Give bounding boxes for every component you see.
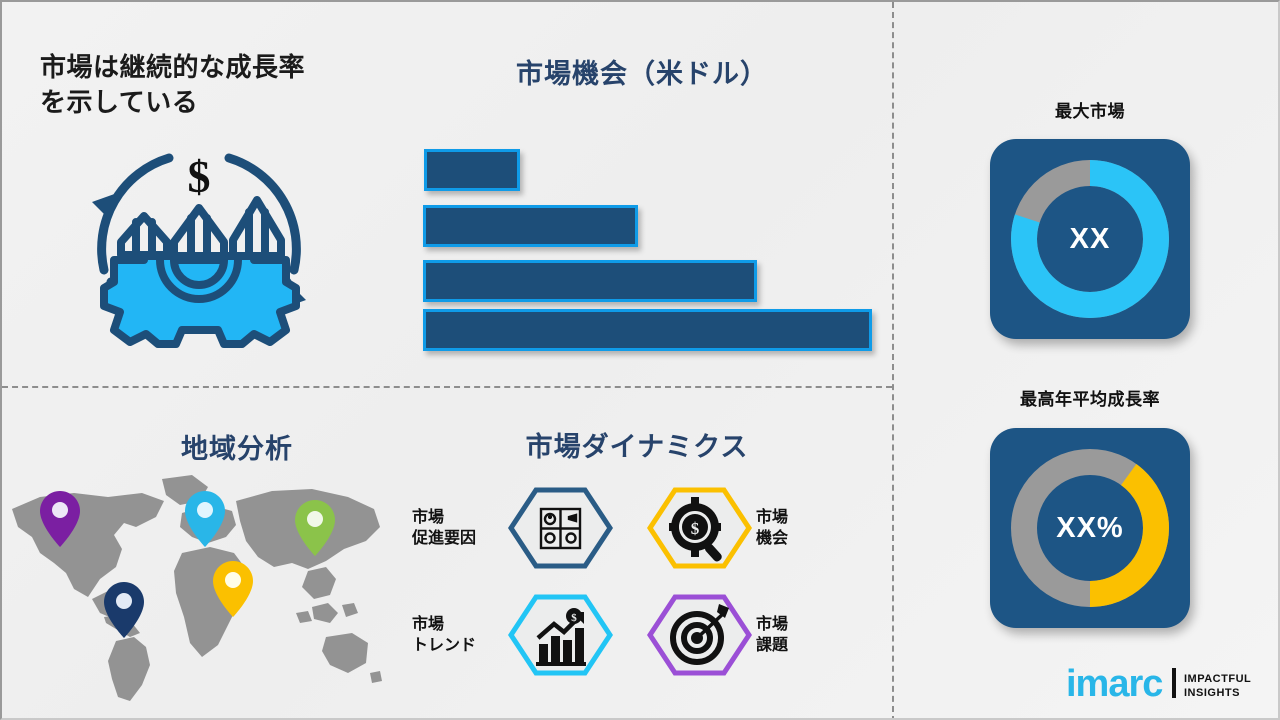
svg-text:$: $ bbox=[571, 612, 577, 624]
dynamics-item-label: 市場 課題 bbox=[756, 614, 848, 656]
hex-drivers bbox=[508, 487, 613, 569]
hex-challenges bbox=[647, 594, 752, 676]
world-map bbox=[0, 457, 396, 707]
puzzle-pieces-icon bbox=[508, 487, 613, 569]
imarc-logo: imarc IMPACTFUL INSIGHTS bbox=[1066, 660, 1266, 706]
dynamics-item-label: 市場 促進要因 bbox=[412, 507, 504, 549]
donut-label-largest-market: 最大市場 bbox=[940, 97, 1240, 122]
growth-bar-chart-icon: $ bbox=[508, 594, 613, 676]
logo-tagline-line2: INSIGHTS bbox=[1184, 687, 1240, 699]
dynamics-item-challenges[interactable]: 市場 課題 bbox=[647, 594, 848, 676]
bar-row bbox=[423, 260, 757, 302]
bar-row bbox=[423, 205, 638, 247]
donut-chart-highest-cagr bbox=[990, 428, 1190, 628]
dynamics-item-label: 市場 機会 bbox=[756, 507, 848, 549]
hex-opportunities: $ bbox=[647, 487, 752, 569]
dynamics-item-drivers[interactable]: 市場 促進要因 bbox=[412, 487, 613, 569]
donut-card-highest-cagr: XX% bbox=[990, 428, 1190, 628]
slide-canvas: 市場は継続的な成長率 を示している $ 市場機会 bbox=[0, 0, 1280, 720]
dynamics-item-label: 市場 トレンド bbox=[412, 614, 504, 656]
svg-text:$: $ bbox=[691, 519, 700, 538]
donut-chart-largest-market bbox=[990, 139, 1190, 339]
logo-wordmark: imarc bbox=[1066, 663, 1163, 705]
bar-row bbox=[424, 149, 520, 191]
dynamics-item-trends[interactable]: 市場 トレンド $ bbox=[412, 594, 613, 676]
bar-row bbox=[423, 309, 872, 351]
logo-tagline-line1: IMPACTFUL bbox=[1184, 673, 1251, 685]
magnifier-dollar-icon: $ bbox=[647, 487, 752, 569]
donut-card-largest-market: XX bbox=[990, 139, 1190, 339]
dynamics-title: 市場ダイナミクス bbox=[417, 425, 857, 464]
dynamics-item-opportunities[interactable]: $ 市場 機会 bbox=[647, 487, 848, 569]
hex-trends: $ bbox=[508, 594, 613, 676]
target-dart-icon bbox=[647, 594, 752, 676]
donut-label-highest-cagr: 最高年平均成長率 bbox=[940, 385, 1240, 410]
